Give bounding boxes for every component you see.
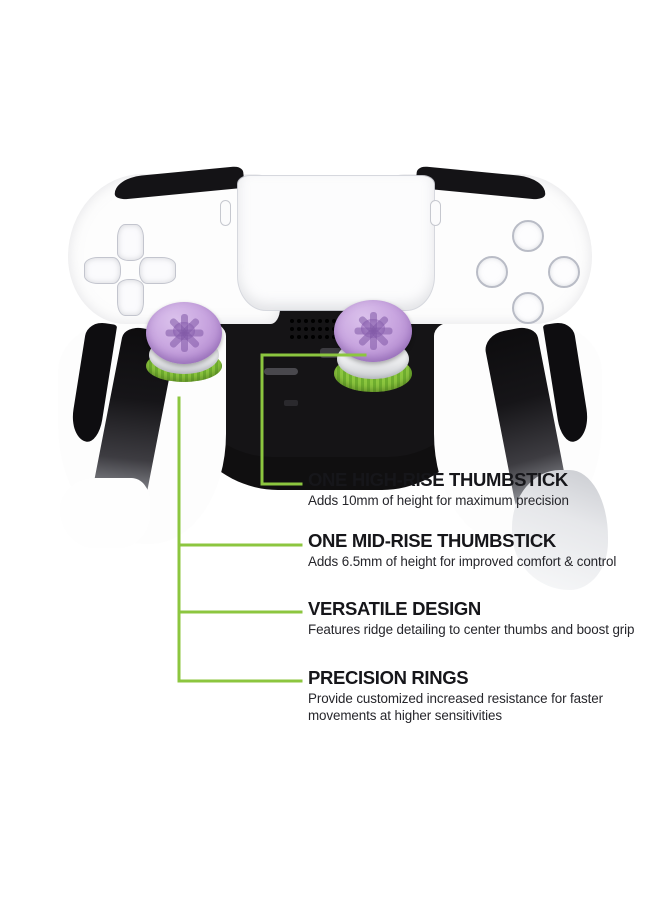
callout-title: PRECISION RINGS (308, 668, 638, 688)
callout-versatile-design: VERSATILE DESIGN Features ridge detailin… (308, 599, 638, 639)
callout-description: Adds 6.5mm of height for improved comfor… (308, 554, 638, 571)
infographic-canvas: ONE HIGH-RISE THUMBSTICK Adds 10mm of he… (0, 0, 660, 900)
callout-connector-lines (0, 0, 660, 900)
callout-description: Adds 10mm of height for maximum precisio… (308, 493, 638, 510)
callout-mid-rise: ONE MID-RISE THUMBSTICK Adds 6.5mm of he… (308, 531, 638, 571)
callout-title: VERSATILE DESIGN (308, 599, 638, 619)
callout-description: Provide customized increased resistance … (308, 691, 638, 725)
callout-high-rise: ONE HIGH-RISE THUMBSTICK Adds 10mm of he… (308, 470, 638, 510)
callout-precision-rings: PRECISION RINGS Provide customized incre… (308, 668, 638, 725)
callout-title: ONE MID-RISE THUMBSTICK (308, 531, 638, 551)
callout-title: ONE HIGH-RISE THUMBSTICK (308, 470, 638, 490)
leader-line-trunk (179, 398, 301, 681)
callout-description: Features ridge detailing to center thumb… (308, 622, 638, 639)
leader-line-high-rise (262, 355, 365, 484)
